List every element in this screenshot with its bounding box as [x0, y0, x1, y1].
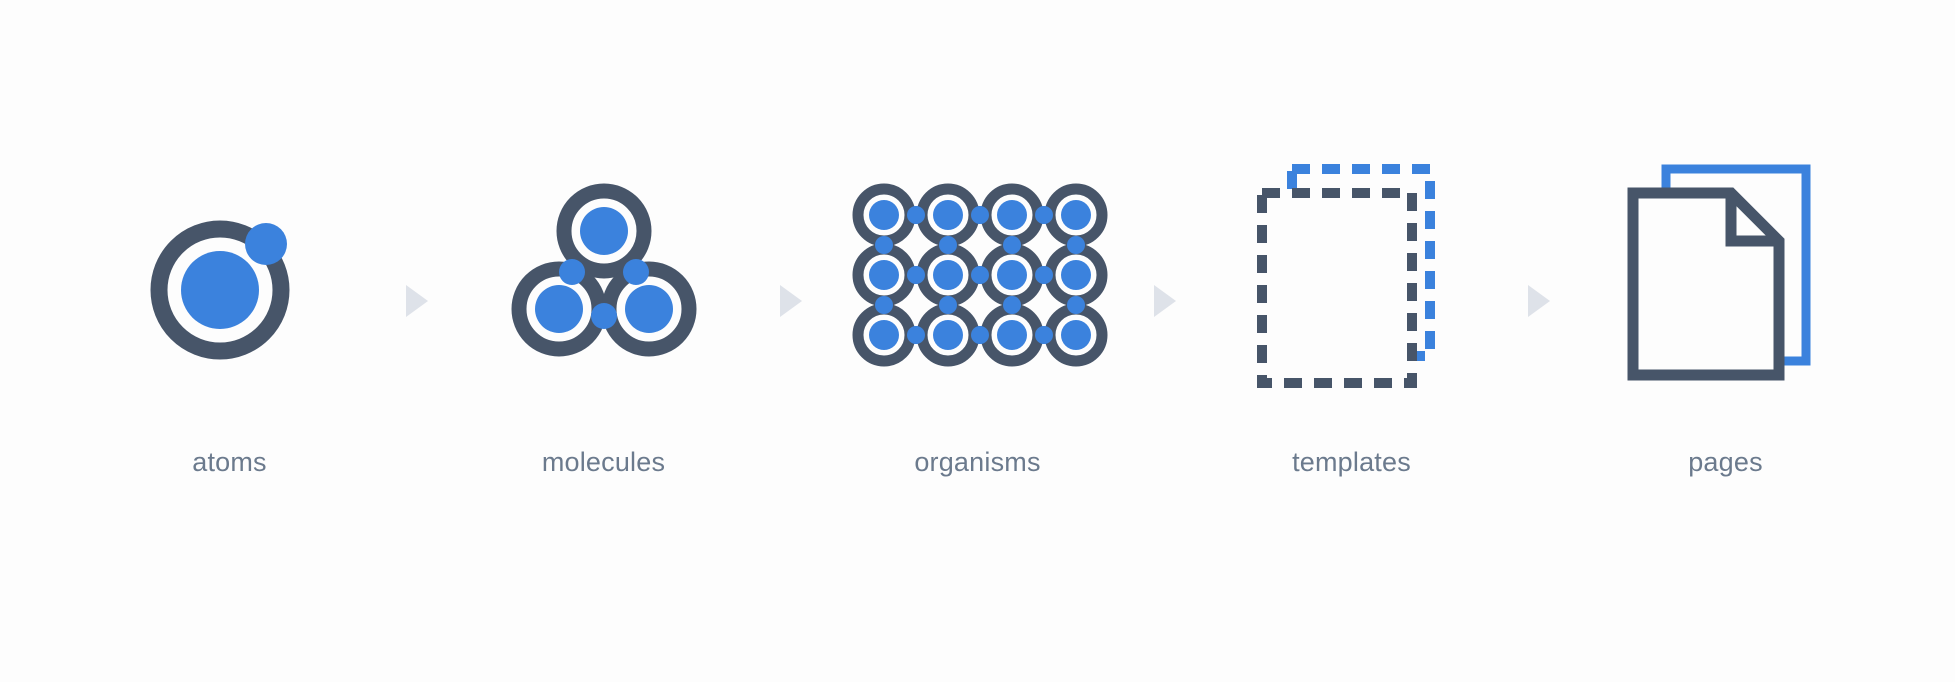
stage-atoms: atoms: [80, 111, 380, 571]
triangle-right-icon: [778, 284, 804, 318]
molecule-atom-top: [564, 191, 644, 271]
triangle-right-icon: [1152, 284, 1178, 318]
triangle-right-icon: [1526, 284, 1552, 318]
molecule-bond-bottom: [591, 303, 617, 329]
page-sheet-front: [1633, 193, 1779, 375]
stage-label-pages: pages: [1688, 449, 1763, 476]
stage-label-organisms: organisms: [914, 449, 1040, 476]
molecule-bond-right: [623, 259, 649, 285]
molecule-atom-bottom-left: [519, 269, 599, 349]
stage-templates: templates: [1202, 111, 1502, 571]
stage-label-molecules: molecules: [542, 449, 665, 476]
triangle-right-icon: [404, 284, 430, 318]
arrow-templates-to-pages: [1502, 111, 1576, 571]
stage-organisms: organisms: [828, 111, 1128, 571]
arrow-atoms-to-molecules: [380, 111, 454, 571]
stage-molecules: molecules: [454, 111, 754, 571]
documents-icon: [1576, 111, 1876, 441]
dashed-frame-front-mask: [1262, 193, 1412, 383]
molecule-bond-left: [559, 259, 585, 285]
arrow-organisms-to-templates: [1128, 111, 1202, 571]
molecule-atom-bottom-right: [609, 269, 689, 349]
molecule-icon: [454, 111, 754, 441]
stage-pages: pages: [1576, 111, 1876, 571]
dashed-frames-icon: [1202, 111, 1502, 441]
organism-grid-icon: [828, 111, 1128, 441]
atom-icon: [80, 111, 380, 441]
atomic-design-diagram: atoms: [0, 0, 1955, 682]
stage-label-templates: templates: [1292, 449, 1411, 476]
arrow-molecules-to-organisms: [754, 111, 828, 571]
stage-label-atoms: atoms: [192, 449, 267, 476]
